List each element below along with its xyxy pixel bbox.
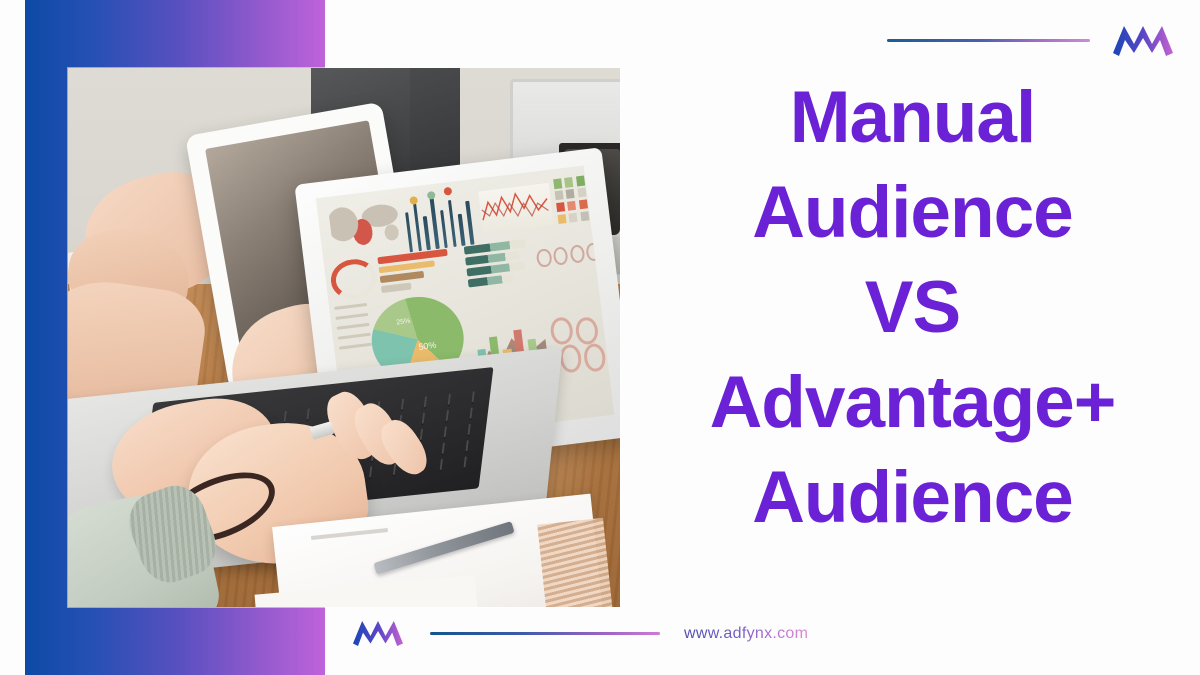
dash-lollipop-bars [400,189,479,253]
headline-line-5: Audience [640,450,1185,545]
dash-line-chart [479,183,554,234]
footer-gradient-rule [430,632,660,635]
photo-notebook-spiral [537,518,615,607]
dash-horizontal-bars [378,247,458,296]
page-title: Manual Audience VS Advantage+ Audience [640,70,1185,545]
headline-line-3: VS [640,260,1185,355]
headline-line-4: Advantage+ [640,355,1185,450]
top-decor-group [887,20,1174,61]
website-url[interactable]: www.adfynx.com [684,625,808,643]
hero-photo: 25% 50% Customer Service [68,68,620,607]
dash-stacked-bars [463,238,534,296]
top-gradient-rule [887,39,1090,42]
headline-line-2: Audience [640,165,1185,260]
zigzag-mountain-logo-icon [350,616,406,651]
dash-donut-red [329,257,380,302]
dash-mini-rings [534,240,602,278]
headline-line-1: Manual [640,70,1185,165]
dash-world-map [328,196,404,254]
zigzag-mountain-logo-icon [1112,20,1174,61]
footer-bar: www.adfynx.com [350,616,808,651]
dash-side-lines [335,303,374,362]
